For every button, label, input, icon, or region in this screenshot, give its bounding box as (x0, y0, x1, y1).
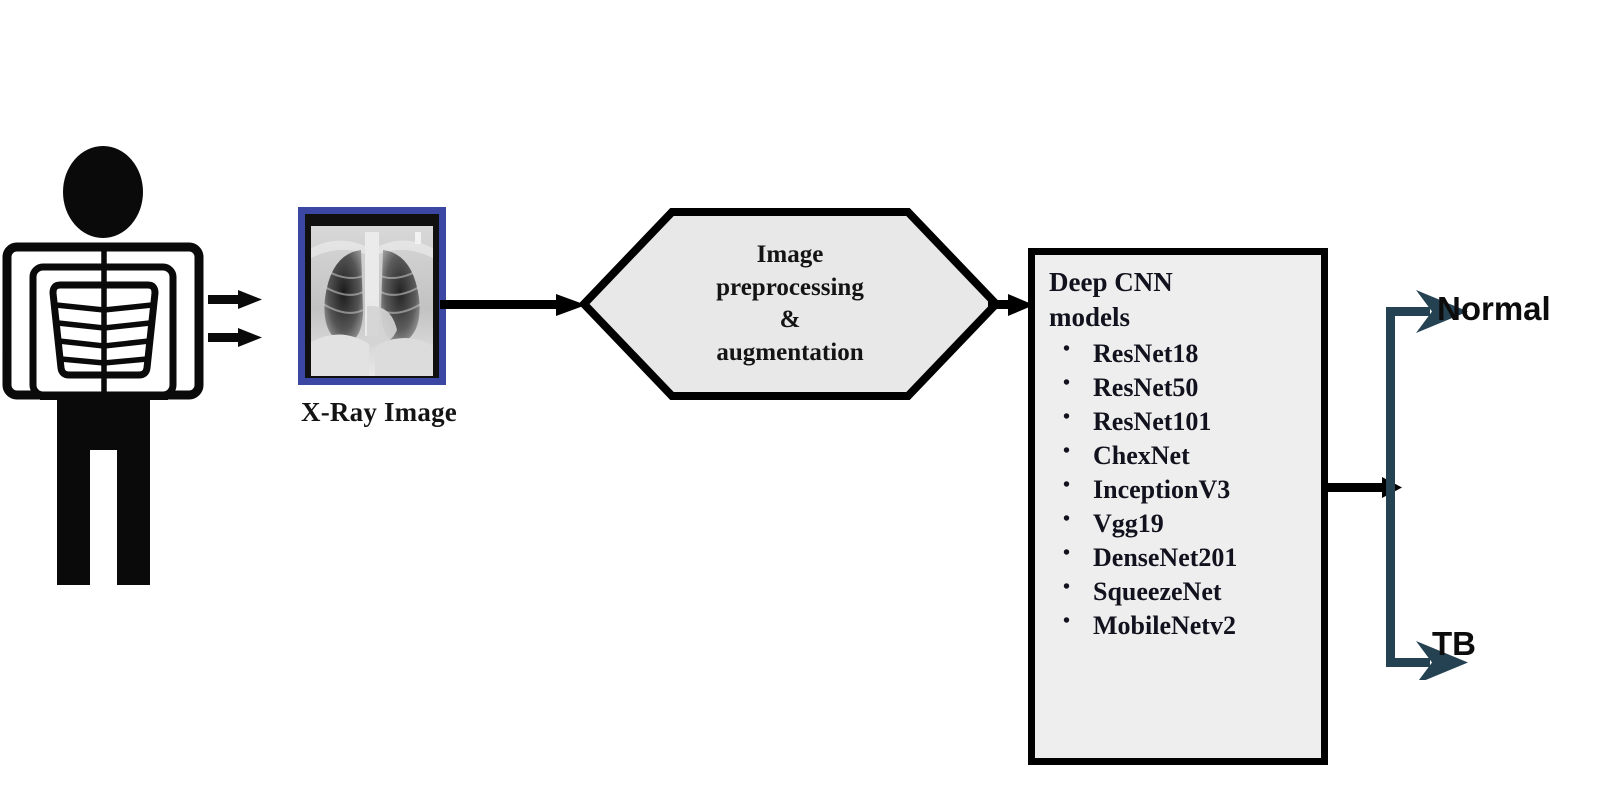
list-item: DenseNet201 (1063, 541, 1321, 575)
arrow-xray-to-preprocess (440, 286, 590, 326)
xray-emission-arrows-icon (208, 290, 262, 347)
output-label-normal: Normal (1437, 290, 1551, 328)
output-branch-connectors (1320, 280, 1500, 680)
xray-thumbnail (298, 207, 446, 385)
patient-legs-icon (57, 380, 150, 585)
patient-head-icon (63, 146, 143, 238)
preprocess-line-3: & (780, 304, 801, 337)
list-item: ResNet18 (1063, 337, 1321, 371)
preprocess-line-2: preprocessing (716, 272, 864, 305)
list-item: InceptionV3 (1063, 473, 1321, 507)
list-item: MobileNetv2 (1063, 609, 1321, 643)
xray-caption: X-Ray Image (298, 397, 460, 428)
cnn-box-title: Deep CNN models (1049, 265, 1321, 335)
patient-figure-svg (0, 130, 270, 600)
patient-xray-figure (0, 130, 270, 600)
preprocessing-hexagon: Image preprocessing & augmentation (580, 206, 1000, 402)
output-label-tb: TB (1432, 625, 1476, 663)
branch-spine (1386, 307, 1395, 667)
preprocessing-label: Image preprocessing & augmentation (580, 206, 1000, 402)
cnn-output-stub (1328, 483, 1390, 492)
diagram-canvas: X-Ray Image Image preprocessing & augmen… (0, 0, 1604, 785)
chest-xray-icon (305, 214, 439, 378)
xray-image-node: X-Ray Image (298, 207, 460, 428)
list-item: SqueezeNet (1063, 575, 1321, 609)
preprocess-line-1: Image (757, 239, 824, 272)
preprocess-line-4: augmentation (716, 337, 863, 370)
deep-cnn-models-box: Deep CNN models ResNet18 ResNet50 ResNet… (1028, 248, 1328, 765)
list-item: ChexNet (1063, 439, 1321, 473)
list-item: ResNet50 (1063, 371, 1321, 405)
list-item: Vgg19 (1063, 507, 1321, 541)
cnn-model-list: ResNet18 ResNet50 ResNet101 ChexNet Ince… (1049, 337, 1321, 642)
list-item: ResNet101 (1063, 405, 1321, 439)
